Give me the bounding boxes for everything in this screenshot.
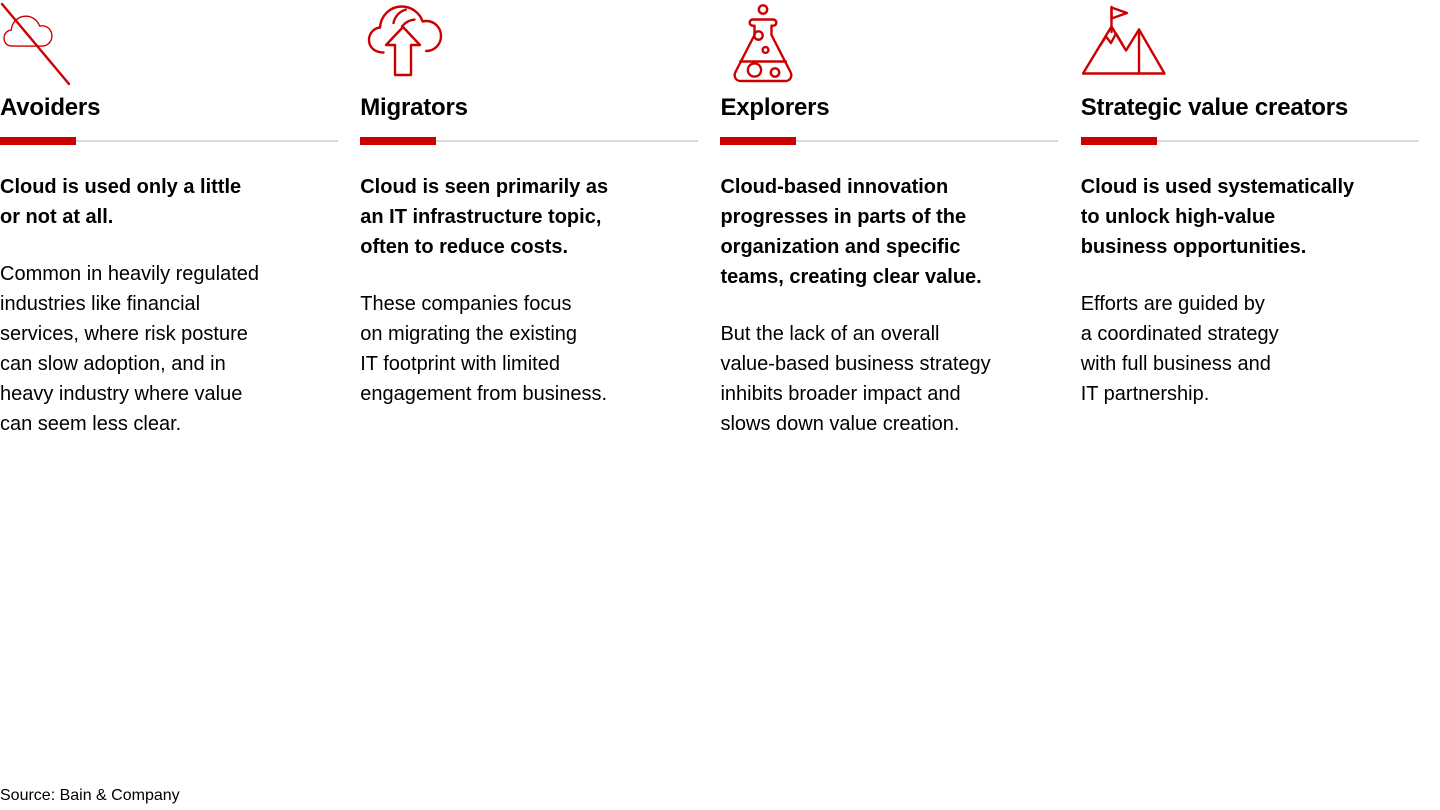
lead-paragraph: Cloud is seen primarily as an IT infrast… <box>360 172 688 262</box>
body-paragraph: Common in heavily regulated industries l… <box>0 259 328 439</box>
page-title: Strategic value creators <box>1081 94 1440 122</box>
body-line: IT footprint with limited <box>360 349 688 379</box>
lead-line: teams, creating clear value. <box>720 262 1048 292</box>
body-line: value-based business strategy <box>720 349 1048 379</box>
lead-line: to unlock high-value <box>1081 202 1440 232</box>
body-line: can seem less clear. <box>0 409 328 439</box>
lead-line: Cloud is used systematically <box>1081 172 1440 202</box>
infographic-page: Avoiders Cloud is used only a little or … <box>0 0 1440 810</box>
category-column-explorers: Explorers Cloud-based innovation progres… <box>720 0 1080 439</box>
body-line: Efforts are guided by <box>1081 289 1440 319</box>
lead-paragraph: Cloud is used systematically to unlock h… <box>1081 172 1440 262</box>
lead-line: business opportunities. <box>1081 232 1440 262</box>
body-paragraph: These companies focus on migrating the e… <box>360 289 688 409</box>
body-line: services, where risk posture <box>0 319 328 349</box>
body-paragraph: Efforts are guided by a coordinated stra… <box>1081 289 1440 409</box>
category-column-avoiders: Avoiders Cloud is used only a little or … <box>0 0 360 439</box>
title-divider <box>1081 133 1440 149</box>
divider-red-accent <box>0 137 76 145</box>
category-column-migrators: Migrators Cloud is seen primarily as an … <box>360 0 720 439</box>
body-line: These companies focus <box>360 289 688 319</box>
page-title: Migrators <box>360 94 688 122</box>
title-divider <box>0 133 328 149</box>
lead-line: progresses in parts of the <box>720 202 1048 232</box>
body-paragraph: But the lack of an overall value-based b… <box>720 319 1048 439</box>
lead-line: or not at all. <box>0 202 328 232</box>
title-divider <box>360 133 688 149</box>
lead-line: Cloud is used only a little <box>0 172 328 202</box>
category-columns: Avoiders Cloud is used only a little or … <box>0 0 1440 439</box>
cloud-disabled-icon <box>0 0 328 92</box>
lead-paragraph: Cloud is used only a little or not at al… <box>0 172 328 232</box>
lead-line: often to reduce costs. <box>360 232 688 262</box>
body-line: inhibits broader impact and <box>720 379 1048 409</box>
body-line: heavy industry where value <box>0 379 328 409</box>
title-divider <box>720 133 1048 149</box>
lead-line: an IT infrastructure topic, <box>360 202 688 232</box>
body-line: a coordinated strategy <box>1081 319 1440 349</box>
lead-line: organization and specific <box>720 232 1048 262</box>
body-line: can slow adoption, and in <box>0 349 328 379</box>
body-line: But the lack of an overall <box>720 319 1048 349</box>
source-note: Source: Bain & Company <box>0 786 180 806</box>
lead-line: Cloud-based innovation <box>720 172 1048 202</box>
body-line: on migrating the existing <box>360 319 688 349</box>
lead-paragraph: Cloud-based innovation progresses in par… <box>720 172 1048 292</box>
body-line: industries like financial <box>0 289 328 319</box>
body-line: engagement from business. <box>360 379 688 409</box>
body-line: Common in heavily regulated <box>0 259 328 289</box>
divider-red-accent <box>1081 137 1157 145</box>
flask-icon <box>720 0 1048 92</box>
page-title: Explorers <box>720 94 1048 122</box>
divider-red-accent <box>720 137 796 145</box>
cloud-upload-icon <box>360 0 688 92</box>
mountain-flag-icon <box>1081 0 1440 92</box>
body-line: with full business and <box>1081 349 1440 379</box>
body-line: IT partnership. <box>1081 379 1440 409</box>
divider-red-accent <box>360 137 436 145</box>
category-column-strategic-value-creators: Strategic value creators Cloud is used s… <box>1081 0 1440 439</box>
body-line: slows down value creation. <box>720 409 1048 439</box>
lead-line: Cloud is seen primarily as <box>360 172 688 202</box>
page-title: Avoiders <box>0 94 328 122</box>
